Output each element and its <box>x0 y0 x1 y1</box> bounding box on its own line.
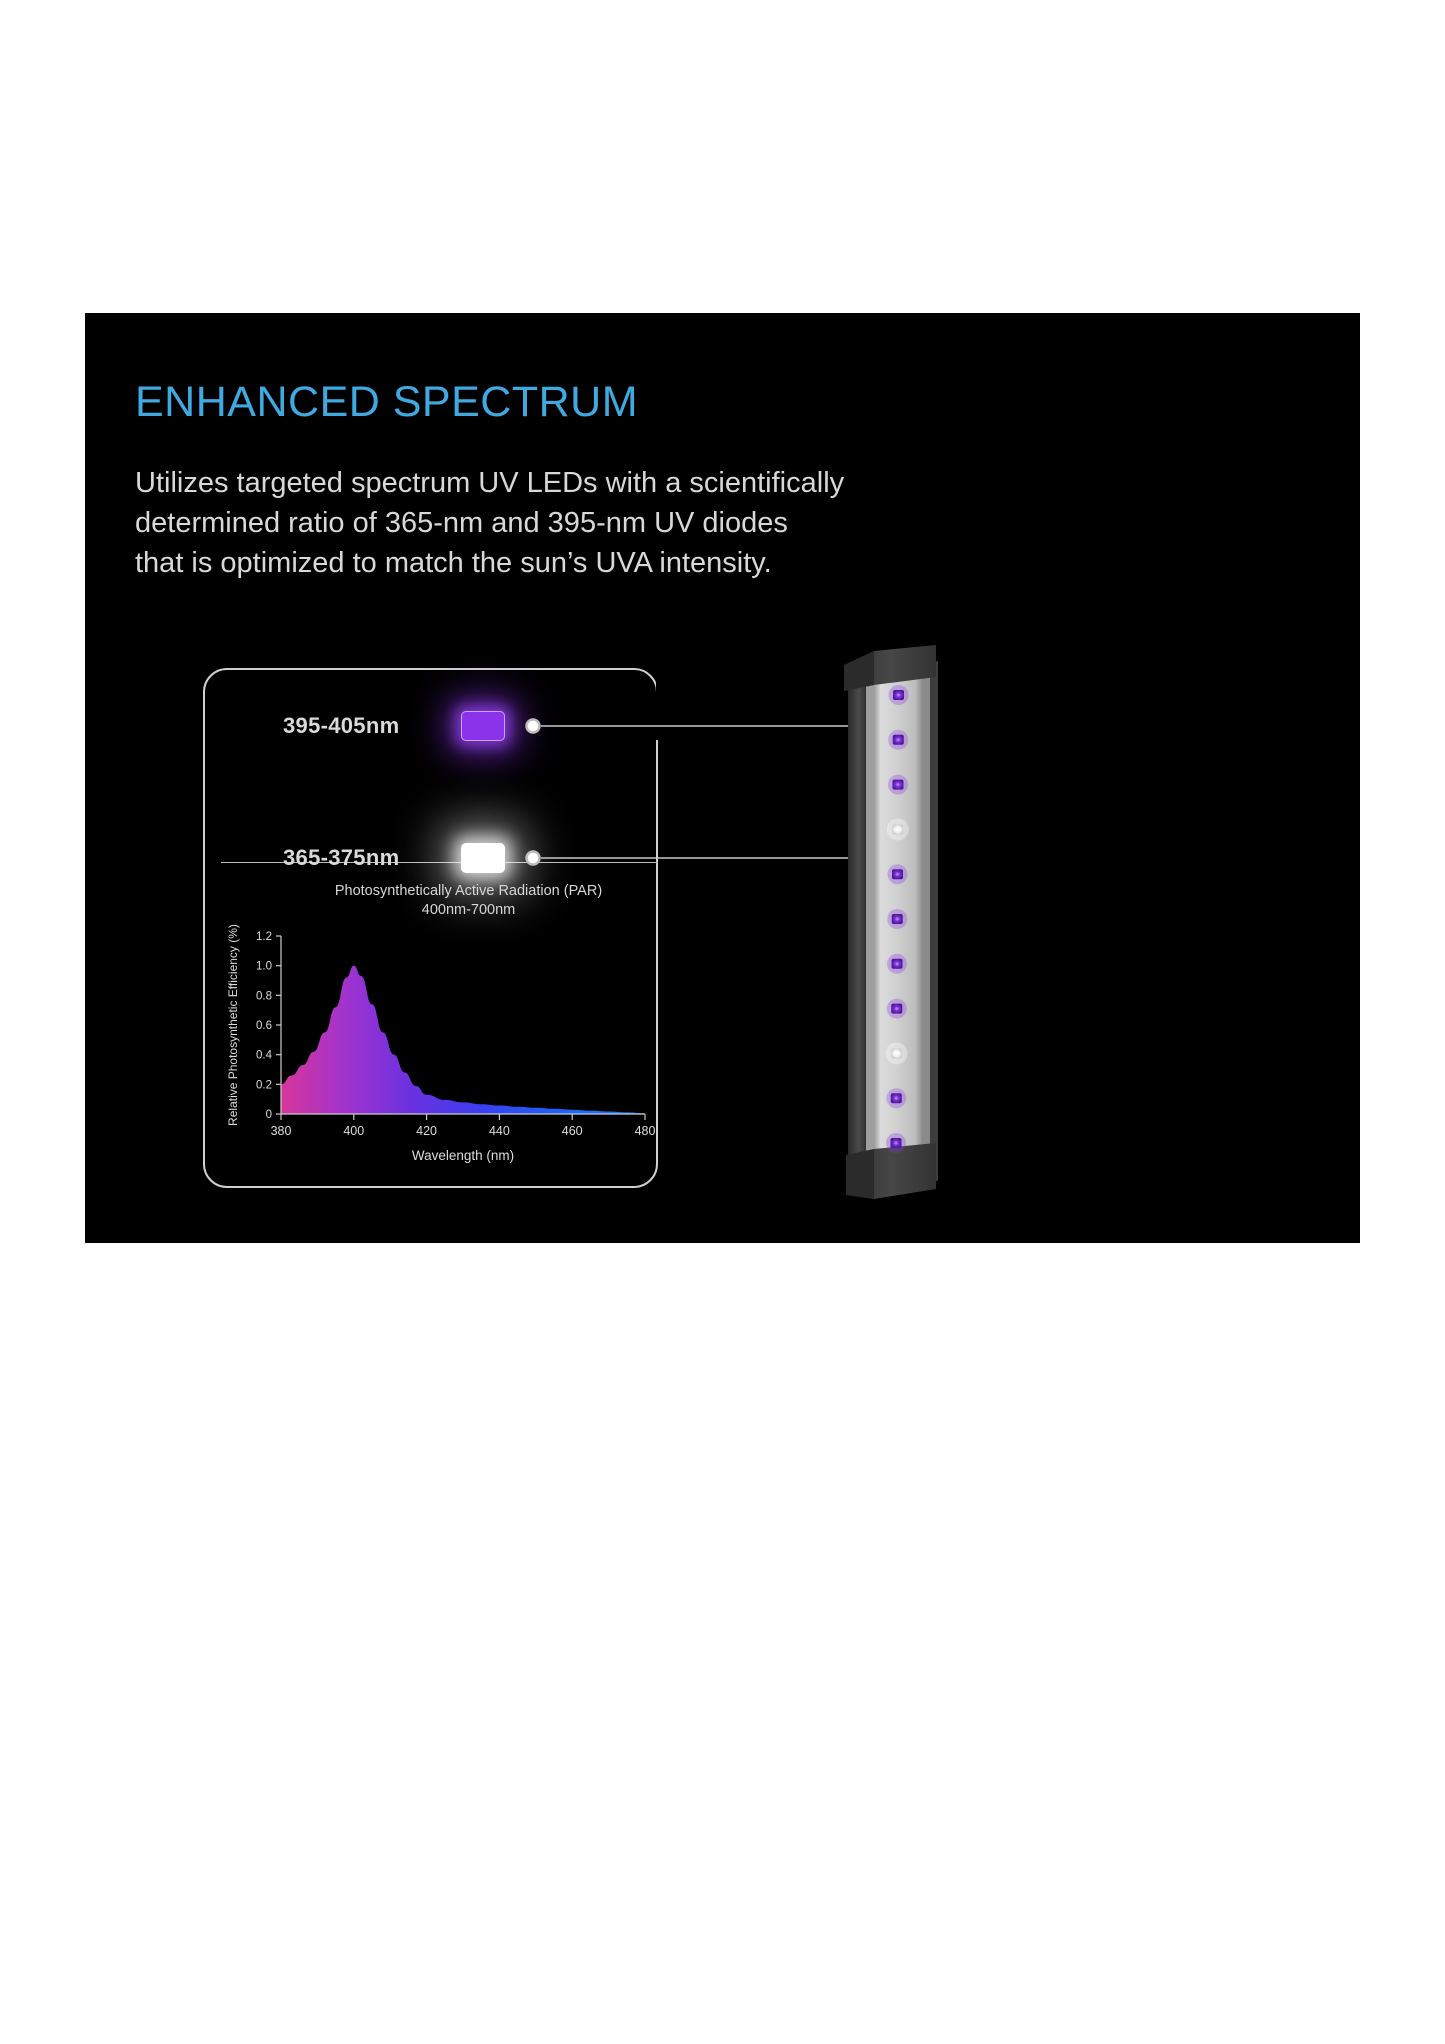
fixture-right-rail <box>922 662 930 1180</box>
x-tick-label: 440 <box>489 1124 510 1138</box>
y-axis-label: Relative Photosynthetic Efficiency (%) <box>226 924 240 1126</box>
led-swatch-violet <box>461 711 505 741</box>
description-line-3: that is optimized to match the sun’s UVA… <box>135 543 945 583</box>
legend-row-violet: 395-405nm <box>203 696 658 756</box>
led-violet <box>893 780 904 790</box>
par-curve-area <box>281 966 645 1114</box>
led-white <box>891 1048 902 1058</box>
chart-canvas: 00.20.40.60.81.01.2380400420440460480Wav… <box>221 876 658 1176</box>
y-tick-label: 0.4 <box>256 1050 273 1062</box>
led-violet <box>893 735 904 745</box>
spectrum-info-panel: 395-405nm 365-375nm Photosynthetically A… <box>203 668 658 1188</box>
par-chart: Photosynthetically Active Radiation (PAR… <box>221 876 658 1176</box>
x-tick-label: 480 <box>635 1124 656 1138</box>
led-violet <box>892 869 903 879</box>
led-violet <box>893 690 904 700</box>
y-tick-label: 1.0 <box>256 961 272 973</box>
uv-led-bar-fixture <box>830 643 990 1203</box>
panel-outline-gap-top <box>656 664 662 698</box>
description-line-2: determined ratio of 365-nm and 395-nm UV… <box>135 503 945 543</box>
description-line-1: Utilizes targeted spectrum UV LEDs with … <box>135 463 945 503</box>
fixture-left-rail <box>848 673 866 1183</box>
x-axis-label: Wavelength (nm) <box>412 1148 514 1163</box>
x-tick-label: 380 <box>271 1124 292 1138</box>
fixture-right-edge <box>930 661 938 1181</box>
page-title: ENHANCED SPECTRUM <box>135 378 638 427</box>
x-tick-label: 400 <box>343 1124 364 1138</box>
fixture-rail-highlight <box>866 670 874 1173</box>
led-violet <box>891 1138 902 1148</box>
description-text: Utilizes targeted spectrum UV LEDs with … <box>135 463 945 583</box>
y-tick-label: 0 <box>266 1109 272 1121</box>
led-violet <box>891 1004 902 1014</box>
fixture-bottom-cap-side <box>846 1149 874 1199</box>
y-tick-label: 0.8 <box>256 990 272 1002</box>
led-violet <box>892 914 903 924</box>
fixture-top-cap-side <box>844 651 874 691</box>
led-swatch-white <box>461 843 505 873</box>
led-violet <box>892 959 903 969</box>
y-tick-label: 0.2 <box>256 1079 272 1091</box>
y-tick-label: 1.2 <box>256 931 272 943</box>
led-violet <box>891 1093 902 1103</box>
x-tick-label: 420 <box>416 1124 437 1138</box>
legend-label-white: 365-375nm <box>283 845 399 871</box>
x-tick-label: 460 <box>562 1124 583 1138</box>
y-tick-label: 0.6 <box>256 1020 272 1032</box>
legend-label-violet: 395-405nm <box>283 713 399 739</box>
enhanced-spectrum-card: ENHANCED SPECTRUM Utilizes targeted spec… <box>85 313 1360 1243</box>
led-white <box>892 824 903 834</box>
